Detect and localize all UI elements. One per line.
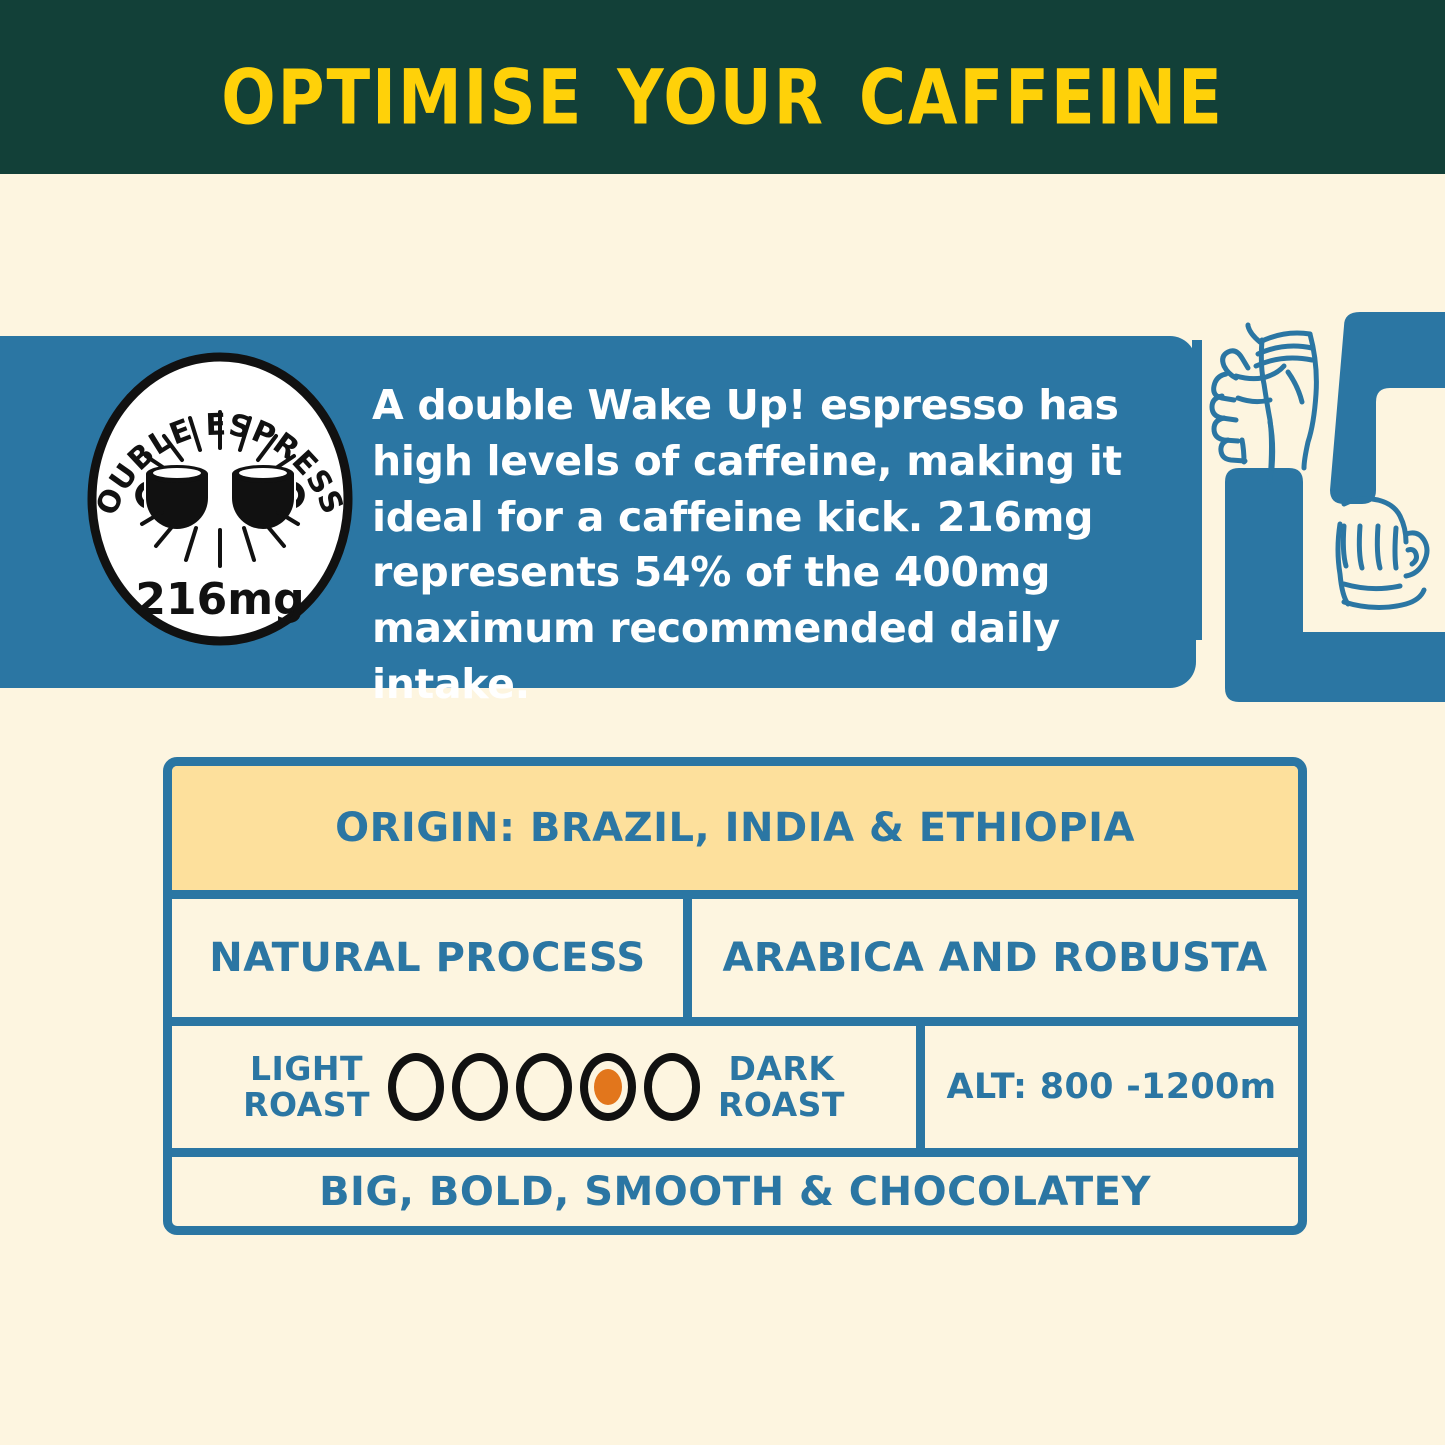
roast-dot-fill [466, 1069, 494, 1105]
table-row-origin: ORIGIN: BRAZIL, INDIA & ETHIOPIA [172, 766, 1298, 899]
table-row-process-beans: NATURAL PROCESS ARABICA AND ROBUSTA [172, 899, 1298, 1026]
caffeine-description: A double Wake Up! espresso has high leve… [372, 378, 1184, 713]
flavour-value: BIG, BOLD, SMOOTH & CHOCOLATEY [172, 1169, 1298, 1215]
process-value: NATURAL PROCESS [172, 899, 692, 1017]
dark-roast-label: DARK ROAST [718, 1051, 845, 1122]
roast-dot-4-selected [580, 1053, 636, 1121]
arms-holding-cups-illustration [1192, 312, 1445, 702]
roast-dot-group [388, 1053, 700, 1121]
roast-dot-fill [530, 1069, 558, 1105]
infographic-page: Optimise your Caffeine DOUBLE ESPRESSO [0, 0, 1445, 1445]
roast-dot-fill [402, 1069, 430, 1105]
page-title: Optimise your Caffeine [221, 33, 1224, 142]
altitude-value: ALT: 800 -1200m [925, 1026, 1298, 1148]
roast-dot-2 [452, 1053, 508, 1121]
badge-value: 216mg [135, 574, 304, 625]
beans-value: ARABICA AND ROBUSTA [692, 899, 1298, 1017]
double-espresso-badge: DOUBLE ESPRESSO [86, 352, 354, 646]
header-bar: Optimise your Caffeine [0, 0, 1445, 174]
roast-dot-3 [516, 1053, 572, 1121]
roast-dot-1 [388, 1053, 444, 1121]
coffee-spec-table: ORIGIN: BRAZIL, INDIA & ETHIOPIA NATURAL… [163, 757, 1307, 1235]
table-row-roast: LIGHT ROAST DARK ROAST ALT: 800 -1200m [172, 1026, 1298, 1157]
roast-scale: LIGHT ROAST DARK ROAST [172, 1026, 925, 1148]
light-roast-label: LIGHT ROAST [243, 1051, 370, 1122]
roast-dot-fill [594, 1069, 622, 1105]
roast-dot-fill [658, 1069, 686, 1105]
table-row-flavour: BIG, BOLD, SMOOTH & CHOCOLATEY [172, 1157, 1298, 1226]
roast-dot-5 [644, 1053, 700, 1121]
origin-value: ORIGIN: BRAZIL, INDIA & ETHIOPIA [172, 766, 1298, 890]
